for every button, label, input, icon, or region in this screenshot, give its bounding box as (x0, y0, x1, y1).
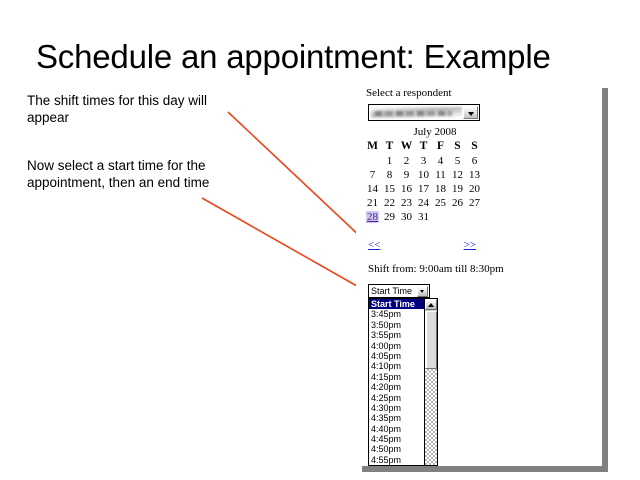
calendar-day-label: 29 (384, 211, 395, 223)
start-time-option[interactable]: 4:35pm (369, 413, 424, 423)
calendar-day-cell[interactable]: 15 (381, 182, 398, 196)
chevron-down-icon[interactable] (417, 286, 428, 297)
calendar-day-cell[interactable]: 6 (466, 154, 483, 168)
page-title: Schedule an appointment: Example (36, 38, 616, 76)
calendar-day-label: 6 (472, 155, 478, 167)
start-time-select[interactable]: Start Time (368, 284, 430, 298)
calendar-day-cell[interactable]: 16 (398, 182, 415, 196)
calendar-day-cell[interactable]: 7 (364, 168, 381, 182)
calendar-week-row: 123456 (364, 154, 483, 168)
calendar-day-grid: 1234567891011121314151617181920212223242… (364, 154, 483, 224)
calendar-day-label: 20 (469, 183, 480, 195)
calendar-widget: July 2008 M T W T F S S 1234567891011121… (364, 126, 494, 224)
calendar-weekday-header: M (364, 140, 381, 154)
arrow-to-shift-times (228, 112, 364, 240)
calendar-table: M T W T F S S 12345678910111213141516171… (364, 140, 483, 224)
calendar-weekday-header: T (415, 140, 432, 154)
calendar-week-row: 78910111213 (364, 168, 483, 182)
callout-text-shift-times: The shift times for this day will appear (27, 92, 242, 126)
calendar-day-cell[interactable]: 1 (381, 154, 398, 168)
calendar-day-cell[interactable]: 8 (381, 168, 398, 182)
calendar-day-cell[interactable]: 3 (415, 154, 432, 168)
calendar-day-label: 24 (418, 197, 429, 209)
calendar-day-cell[interactable]: 10 (415, 168, 432, 182)
start-time-option[interactable]: 4:25pm (369, 393, 424, 403)
respondent-select[interactable] (368, 104, 480, 121)
calendar-next-link[interactable]: >> (464, 239, 476, 251)
calendar-day-label: 28 (366, 211, 379, 223)
calendar-day-label: 18 (435, 183, 446, 195)
calendar-day-cell[interactable]: 14 (364, 182, 381, 196)
start-time-option-selected[interactable]: Start Time (369, 299, 424, 309)
calendar-weekday-header: S (466, 140, 483, 154)
chevron-down-icon[interactable] (463, 106, 478, 119)
calendar-day-label: 7 (370, 169, 376, 181)
calendar-day-cell[interactable]: 20 (466, 182, 483, 196)
calendar-day-cell[interactable]: 17 (415, 182, 432, 196)
calendar-weekday-header: W (398, 140, 415, 154)
scrollbar-track[interactable] (425, 369, 437, 465)
calendar-day-label: 15 (384, 183, 395, 195)
calendar-navigation: << >> (368, 239, 476, 251)
calendar-day-label: 19 (452, 183, 463, 195)
calendar-day-cell[interactable]: 30 (398, 210, 415, 224)
calendar-day-label: 23 (401, 197, 412, 209)
calendar-weekday-header: S (449, 140, 466, 154)
calendar-day-label: 3 (421, 155, 427, 167)
calendar-day-label: 4 (438, 155, 444, 167)
calendar-day-empty (432, 210, 449, 224)
calendar-day-empty (364, 154, 381, 168)
calendar-day-cell[interactable]: 25 (432, 196, 449, 210)
calendar-day-label: 31 (418, 211, 429, 223)
calendar-day-label: 13 (469, 169, 480, 181)
calendar-day-label: 9 (404, 169, 410, 181)
calendar-day-label: 8 (387, 169, 393, 181)
calendar-day-label: 2 (404, 155, 410, 167)
calendar-day-label: 16 (401, 183, 412, 195)
calendar-day-cell[interactable]: 24 (415, 196, 432, 210)
calendar-weekday-row: M T W T F S S (364, 140, 483, 154)
calendar-day-cell[interactable]: 12 (449, 168, 466, 182)
calendar-day-label: 11 (435, 169, 446, 181)
start-time-option[interactable]: 3:45pm (369, 309, 424, 319)
start-time-option[interactable]: 4:05pm (369, 351, 424, 361)
calendar-day-label: 14 (367, 183, 378, 195)
calendar-day-cell[interactable]: 9 (398, 168, 415, 182)
start-time-option[interactable]: 4:45pm (369, 434, 424, 444)
calendar-day-label: 25 (435, 197, 446, 209)
start-time-option[interactable]: 3:50pm (369, 320, 424, 330)
calendar-prev-link[interactable]: << (368, 239, 380, 251)
calendar-day-cell[interactable]: 26 (449, 196, 466, 210)
calendar-day-cell[interactable]: 19 (449, 182, 466, 196)
calendar-day-label: 22 (384, 197, 395, 209)
calendar-day-label: 5 (455, 155, 461, 167)
start-time-option[interactable]: 4:10pm (369, 361, 424, 371)
calendar-day-label: 30 (401, 211, 412, 223)
start-time-option[interactable]: 4:55pm (369, 455, 424, 465)
calendar-weekday-header: T (381, 140, 398, 154)
calendar-day-label: 10 (418, 169, 429, 181)
calendar-weekday-header: F (432, 140, 449, 154)
triangle-up-icon[interactable] (425, 299, 437, 310)
calendar-day-cell[interactable]: 22 (381, 196, 398, 210)
calendar-day-empty (449, 210, 466, 224)
scrollbar-thumb[interactable] (425, 311, 437, 369)
calendar-week-row: 21222324252627 (364, 196, 483, 210)
arrow-to-start-time-list (202, 198, 364, 290)
calendar-day-selected[interactable]: 28 (364, 210, 381, 224)
start-time-option[interactable]: 4:30pm (369, 403, 424, 413)
calendar-day-cell[interactable]: 18 (432, 182, 449, 196)
calendar-day-label: 21 (367, 197, 378, 209)
start-time-option[interactable]: 4:40pm (369, 424, 424, 434)
calendar-day-empty (466, 210, 483, 224)
calendar-day-cell[interactable]: 5 (449, 154, 466, 168)
calendar-day-cell[interactable]: 4 (432, 154, 449, 168)
calendar-day-label: 17 (418, 183, 429, 195)
respondent-selected-value (371, 107, 462, 118)
calendar-day-cell[interactable]: 21 (364, 196, 381, 210)
start-time-option-list[interactable]: Start Time3:45pm3:50pm3:55pm4:00pm4:05pm… (368, 298, 438, 466)
start-time-option[interactable]: 4:50pm (369, 444, 424, 454)
appointment-scheduler-panel: Select a respondent July 2008 M T W T F … (356, 82, 602, 466)
calendar-day-label: 26 (452, 197, 463, 209)
shift-range-text: Shift from: 9:00am till 8:30pm (368, 263, 504, 275)
calendar-day-label: 27 (469, 197, 480, 209)
respondent-label: Select a respondent (366, 87, 452, 99)
start-time-option[interactable]: 4:15pm (369, 372, 424, 382)
calendar-week-row: 14151617181920 (364, 182, 483, 196)
calendar-day-cell[interactable]: 27 (466, 196, 483, 210)
calendar-day-cell[interactable]: 29 (381, 210, 398, 224)
start-time-selected-value: Start Time (369, 285, 417, 297)
start-time-options-container: Start Time3:45pm3:50pm3:55pm4:00pm4:05pm… (369, 299, 424, 465)
calendar-month-label: July 2008 (364, 126, 494, 138)
calendar-day-label: 1 (387, 155, 393, 167)
start-time-option[interactable]: 4:00pm (369, 341, 424, 351)
callout-text-select-start-time: Now select a start time for the appointm… (27, 157, 247, 191)
calendar-day-cell[interactable]: 11 (432, 168, 449, 182)
calendar-day-cell[interactable]: 2 (398, 154, 415, 168)
start-time-scrollbar[interactable] (424, 299, 437, 465)
calendar-day-label: 12 (452, 169, 463, 181)
calendar-day-cell[interactable]: 13 (466, 168, 483, 182)
calendar-week-row: 28293031 (364, 210, 483, 224)
start-time-option[interactable]: 4:20pm (369, 382, 424, 392)
calendar-day-cell[interactable]: 23 (398, 196, 415, 210)
start-time-option[interactable]: 3:55pm (369, 330, 424, 340)
calendar-day-cell[interactable]: 31 (415, 210, 432, 224)
